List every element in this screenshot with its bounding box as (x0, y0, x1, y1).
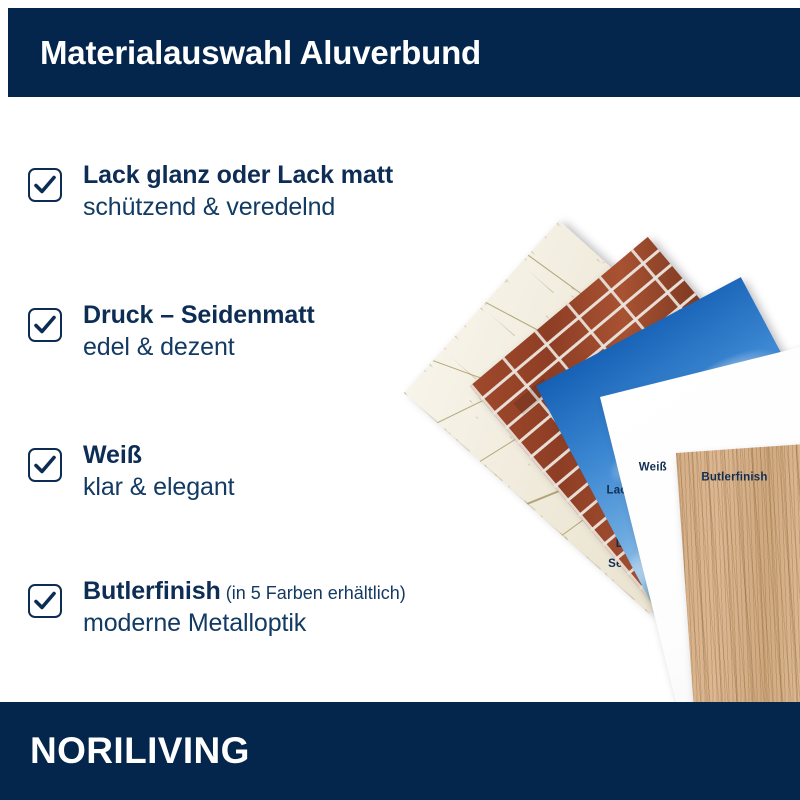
checkbox-druck[interactable] (28, 308, 62, 342)
checklist-item-title: Druck – Seidenmatt (83, 303, 315, 328)
checkbox-weiss[interactable] (28, 448, 62, 482)
checklist-item-title-text: Weiß (83, 441, 142, 469)
checklist-item-subtitle: klar & elegant (83, 475, 234, 500)
sample-card-butlerfinish[interactable]: Butlerfinish (676, 438, 800, 702)
checklist-item-lack[interactable]: Lack glanz oder Lack matt schützend & ve… (28, 163, 393, 220)
page-title: Materialauswahl Aluverbund (8, 34, 481, 72)
checkmark-icon (34, 591, 56, 611)
checklist-item-title-text: Butlerfinish (83, 577, 221, 605)
checklist-item-title-text: Lack glanz oder Lack matt (83, 161, 393, 189)
checklist-item-text: Weiß klar & elegant (83, 443, 234, 500)
checklist-item-title: Butlerfinish (in 5 Farben erhältlich) (83, 579, 406, 604)
checklist-item-butlerfinish[interactable]: Butlerfinish (in 5 Farben erhältlich) mo… (28, 579, 406, 636)
checklist-item-text: Lack glanz oder Lack matt schützend & ve… (83, 163, 393, 220)
footer-bar: NORILIVING (0, 702, 800, 800)
checkmark-icon (34, 175, 56, 195)
header-bar: Materialauswahl Aluverbund (8, 8, 800, 97)
checklist-item-druck[interactable]: Druck – Seidenmatt edel & dezent (28, 303, 315, 360)
brand-logo: NORILIVING (0, 730, 250, 772)
checkmark-icon (34, 455, 56, 475)
checklist-item-subtitle: schützend & veredelnd (83, 195, 393, 220)
checkbox-lack[interactable] (28, 168, 62, 202)
checklist-item-text: Butlerfinish (in 5 Farben erhältlich) mo… (83, 579, 406, 636)
material-selection-page: Materialauswahl Aluverbund Seidenmatt (0, 0, 800, 800)
content-area: Seidenmatt Lack glanz Lack matt Weiß But… (0, 97, 800, 702)
checklist-item-note: (in 5 Farben erhältlich) (221, 583, 406, 603)
checkbox-butlerfinish[interactable] (28, 584, 62, 618)
checklist-item-title: Weiß (83, 443, 234, 468)
checklist-item-weiss[interactable]: Weiß klar & elegant (28, 443, 234, 500)
checklist-item-subtitle: moderne Metalloptik (83, 611, 406, 636)
checklist-item-text: Druck – Seidenmatt edel & dezent (83, 303, 315, 360)
checkmark-icon (34, 315, 56, 335)
checklist-item-title: Lack glanz oder Lack matt (83, 163, 393, 188)
sample-card-label: Weiß (639, 462, 667, 474)
checklist-item-subtitle: edel & dezent (83, 335, 315, 360)
sample-card-label: Butlerfinish (701, 471, 767, 483)
checklist-item-title-text: Druck – Seidenmatt (83, 301, 315, 329)
